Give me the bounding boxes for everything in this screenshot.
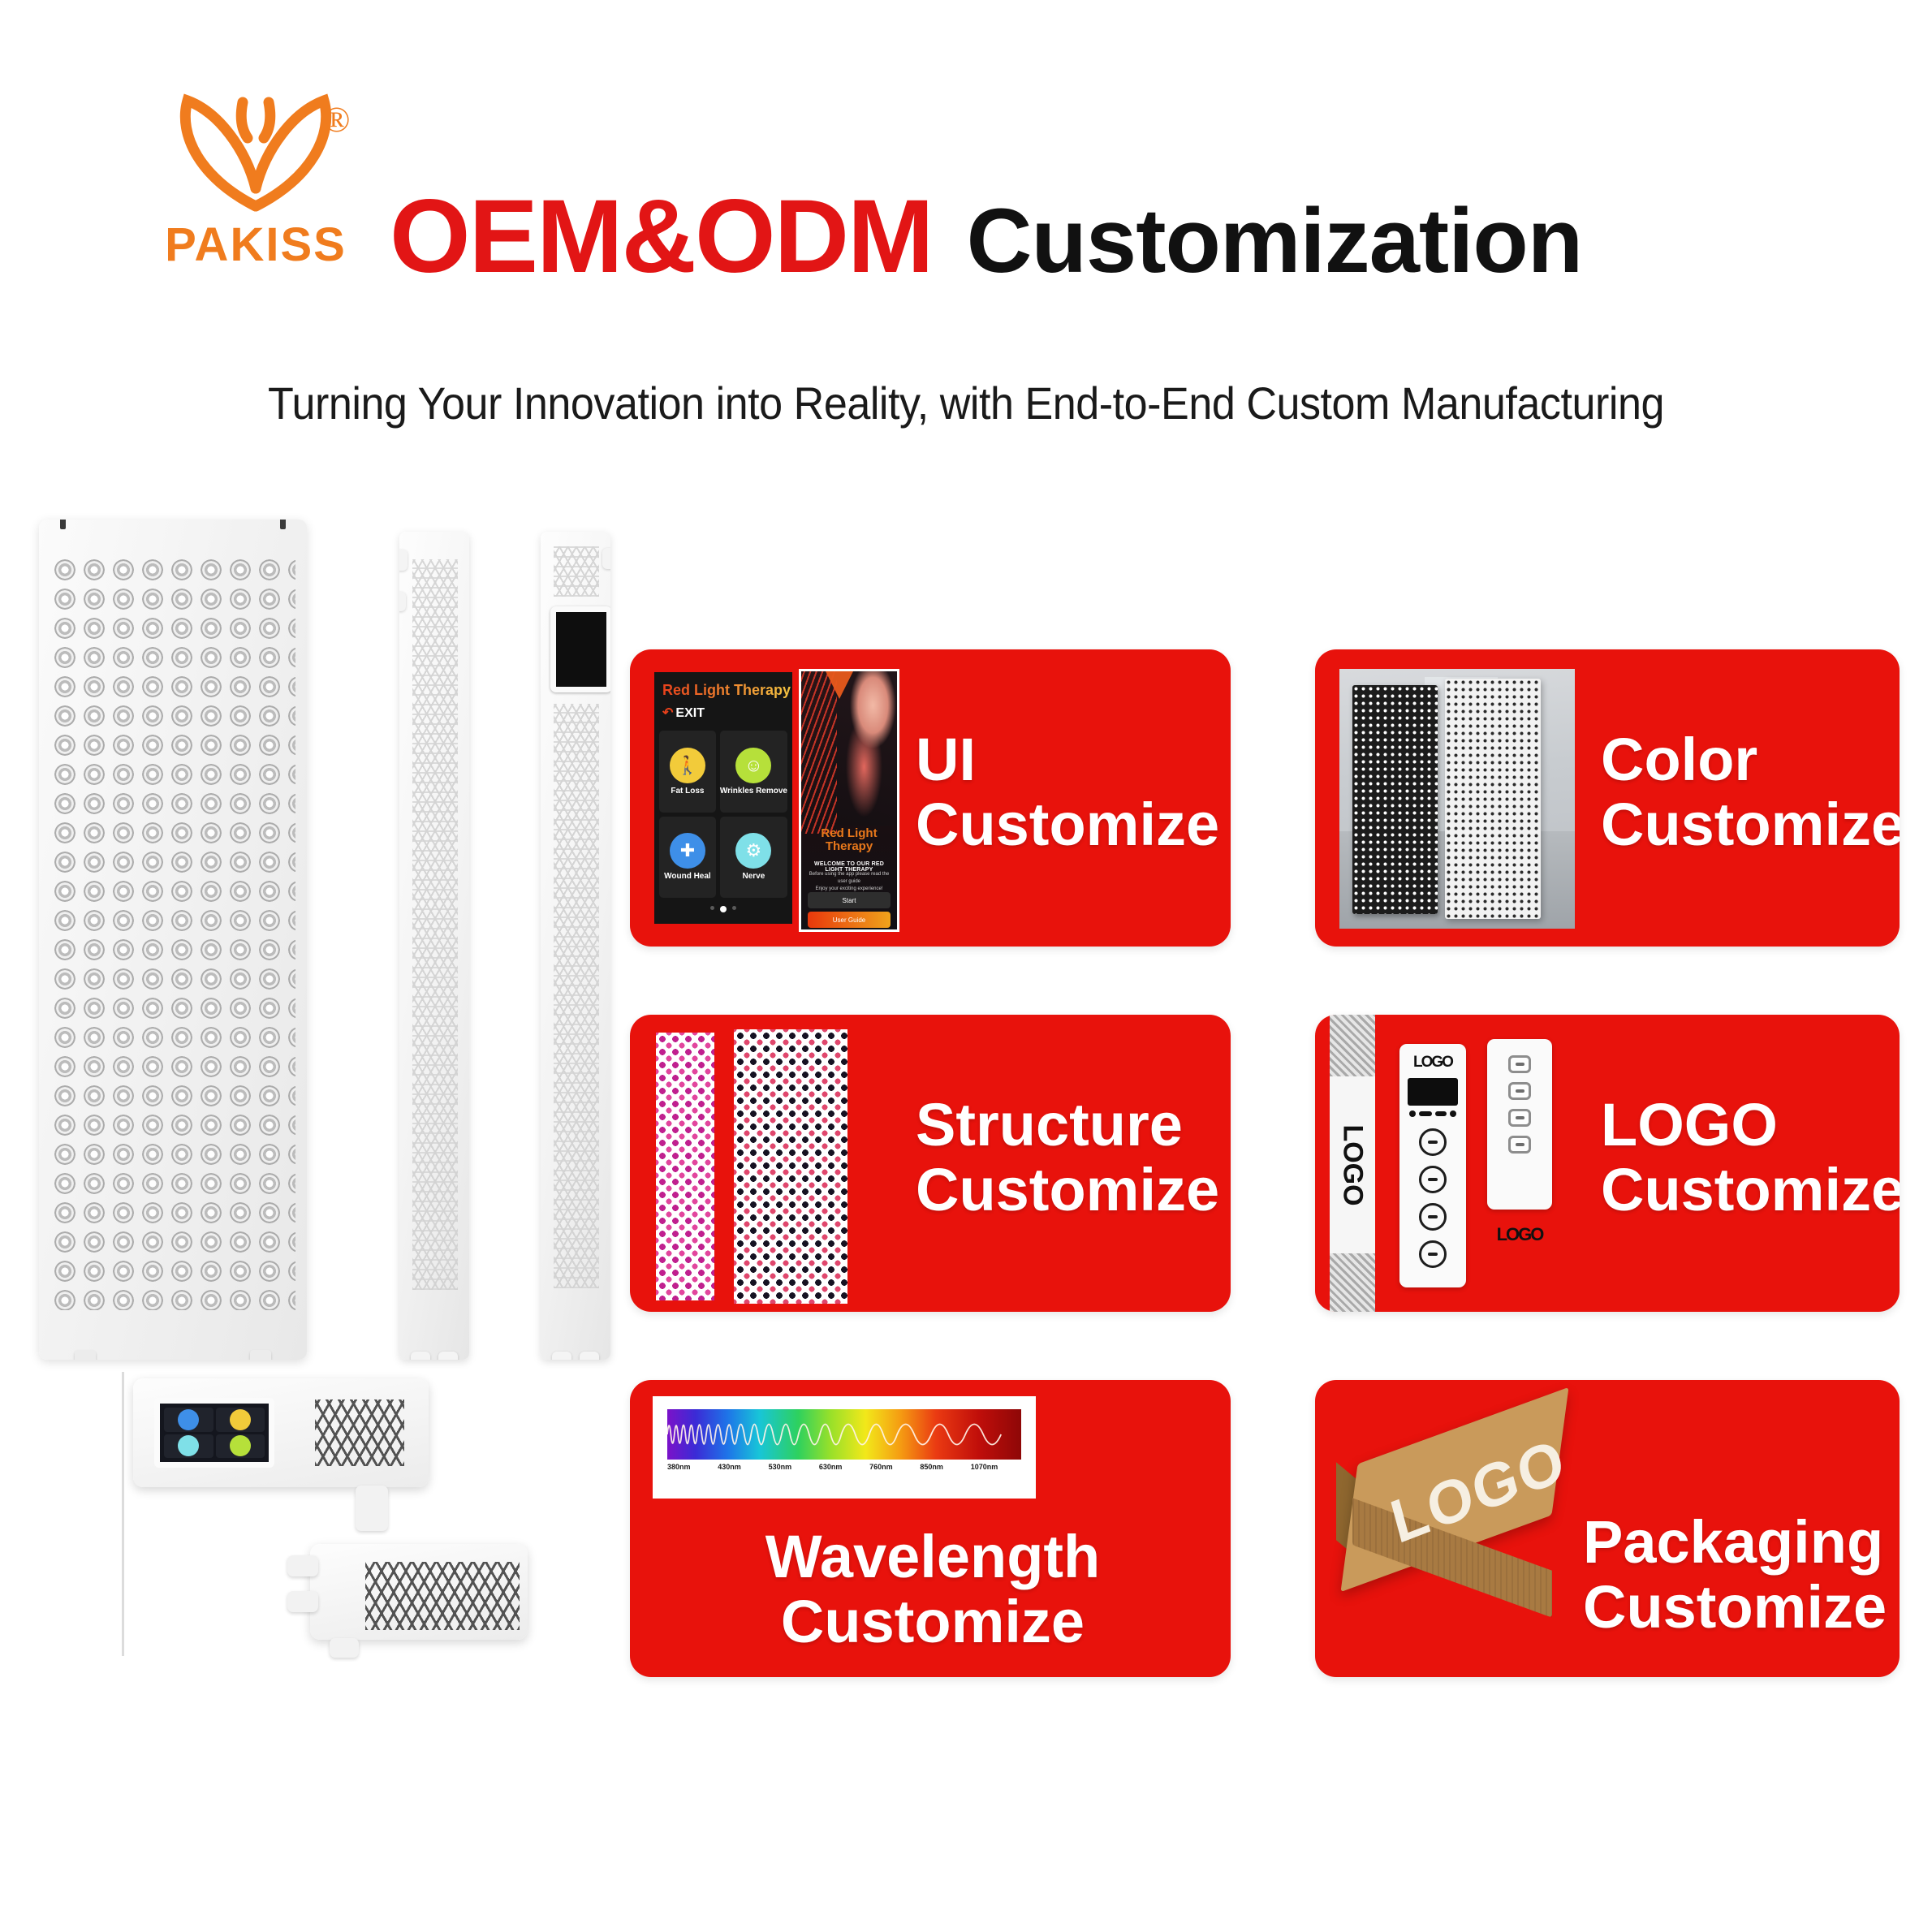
screen-tile-nerve	[164, 1434, 213, 1459]
bar-a-foot-right	[438, 1352, 458, 1360]
panel-button-3[interactable]	[1419, 1203, 1447, 1231]
card-label-line1: Structure	[916, 1093, 1219, 1158]
panel-foot-left	[75, 1350, 96, 1360]
title-oem-odm: OEM&ODM	[390, 185, 933, 289]
control-head-stem-a	[356, 1486, 388, 1531]
device-remote[interactable]	[1487, 1039, 1552, 1210]
card-packaging-label: Packaging Customize	[1583, 1510, 1887, 1640]
bar-a-connector-top	[399, 550, 408, 571]
v-accent-shape	[826, 671, 853, 699]
card-label-line2: Customize	[1601, 1158, 1900, 1223]
registered-mark: ®	[323, 99, 350, 140]
panel-indicator-row	[1399, 1110, 1466, 1117]
panel-foot-right	[250, 1350, 271, 1360]
spectrum-wave-curve	[667, 1409, 1021, 1460]
exit-button[interactable]: ↶EXIT	[662, 705, 705, 721]
side-logo-text: LOGO	[1337, 1124, 1369, 1205]
fat-loss-icon: 🚶	[670, 748, 705, 783]
card-logo-label: LOGO Customize	[1601, 1093, 1900, 1223]
bar-b-display-screen	[550, 606, 610, 692]
remote-button-1[interactable]	[1508, 1055, 1531, 1073]
product-led-panel-photo	[39, 520, 307, 1360]
bar-b-vent-pattern	[554, 704, 599, 1288]
card-label-line2: Customize	[916, 1158, 1219, 1223]
card-ui-label: UI Customize	[916, 727, 1219, 857]
panel-display	[1408, 1078, 1458, 1106]
screen-tile-wrinkles	[216, 1434, 265, 1459]
bar-a-connector-mid	[399, 592, 406, 611]
bar-b-vent-top	[554, 546, 599, 597]
tile-nerve[interactable]: ⚙ Nerve	[720, 817, 787, 899]
panel-white-variant	[1445, 679, 1541, 919]
screen-tile-wound-heal	[164, 1408, 213, 1432]
device-control-panel[interactable]: LOGO	[1399, 1044, 1466, 1287]
bar-a-vent-pattern	[412, 559, 458, 1290]
panel-button-stack[interactable]	[1399, 1128, 1466, 1268]
panel-black-variant	[1352, 685, 1438, 914]
control-head-front	[133, 1378, 429, 1487]
product-light-bar-b	[541, 532, 610, 1360]
ui-screen-menu: Red Light Therapy ↶EXIT 🚶 Fat Loss ☺ Wri…	[654, 672, 792, 924]
remote-logo-text: LOGO	[1487, 1224, 1552, 1245]
ui-screen-welcome: Red LightTherapy WELCOME TO OUR RED LIGH…	[799, 669, 899, 932]
card-color-label: Color Customize	[1601, 727, 1900, 857]
tile-wrinkles-remove[interactable]: ☺ Wrinkles Remove	[720, 731, 787, 813]
page-dot[interactable]	[732, 906, 736, 910]
control-head-side	[310, 1544, 528, 1640]
control-head-side-vent	[365, 1562, 520, 1630]
mesh-vent-top	[1330, 1015, 1375, 1076]
panel-hanger-left	[60, 520, 66, 529]
page-indicator-dots[interactable]	[654, 906, 792, 912]
page-title: OEM&ODM Customization	[390, 185, 1582, 289]
card-structure-label: Structure Customize	[916, 1093, 1219, 1223]
color-variant-photo	[1339, 669, 1575, 929]
tick-label: 760nm	[869, 1463, 920, 1471]
back-arrow-icon: ↶	[662, 705, 673, 721]
remote-button-3[interactable]	[1508, 1109, 1531, 1127]
tick-label: 530nm	[769, 1463, 819, 1471]
control-head-port-b	[287, 1591, 318, 1612]
page-dot-active[interactable]	[720, 906, 727, 912]
tile-label: Wound Heal	[664, 872, 711, 881]
card-label-line1: Wavelength	[734, 1524, 1132, 1589]
bar-a-foot-left	[411, 1352, 430, 1360]
welcome-title: Red LightTherapy	[801, 827, 897, 853]
start-button[interactable]: Start	[808, 892, 891, 908]
device-side-rail: LOGO	[1330, 1015, 1375, 1312]
card-label-line1: UI	[916, 727, 1219, 792]
tile-label: Nerve	[743, 872, 765, 881]
side-rail-logo: LOGO	[1330, 1112, 1375, 1218]
treatment-tile-grid: 🚶 Fat Loss ☺ Wrinkles Remove ✚ Wound Hea…	[659, 731, 787, 898]
photo-edge-line	[122, 1372, 124, 1656]
bar-b-foot-left	[552, 1352, 571, 1360]
screen-title: Red Light Therapy	[662, 682, 791, 699]
remote-button-4[interactable]	[1508, 1136, 1531, 1154]
panel-hanger-right	[280, 520, 286, 529]
tile-wound-heal[interactable]: ✚ Wound Heal	[659, 817, 716, 899]
page-dot[interactable]	[710, 906, 714, 910]
led-strip-narrow	[656, 1033, 714, 1300]
card-color-customize[interactable]: Color Customize	[1315, 649, 1900, 947]
control-head-port-a	[287, 1555, 318, 1576]
tick-label: 1070nm	[971, 1463, 1021, 1471]
packaging-box-photo: LOGO	[1341, 1412, 1585, 1632]
spectrum-chart: 380nm 430nm 530nm 630nm 760nm 850nm 1070…	[653, 1396, 1036, 1499]
card-wavelength-label: Wavelength Customize	[734, 1524, 1132, 1654]
spectrum-tick-labels: 380nm 430nm 530nm 630nm 760nm 850nm 1070…	[667, 1463, 1021, 1471]
page-subtitle: Turning Your Innovation into Reality, wi…	[67, 377, 1864, 429]
control-head-screen	[154, 1398, 274, 1468]
nerve-icon: ⚙	[735, 833, 771, 869]
tick-label: 850nm	[920, 1463, 970, 1471]
wrinkles-remove-icon: ☺	[735, 748, 771, 783]
remote-button-2[interactable]	[1508, 1082, 1531, 1100]
bar-b-foot-right	[580, 1352, 599, 1360]
tick-label: 630nm	[819, 1463, 869, 1471]
card-label-line2: Customize	[916, 792, 1219, 857]
card-structure-customize[interactable]: Structure Customize	[630, 1015, 1231, 1312]
product-control-head-photo	[122, 1372, 560, 1656]
remote-button-stack[interactable]	[1487, 1055, 1552, 1154]
tick-label: 430nm	[718, 1463, 768, 1471]
led-strip-wide	[734, 1029, 847, 1304]
tick-label: 380nm	[667, 1463, 718, 1471]
control-head-stem-b	[330, 1638, 359, 1658]
screen-tile-fat-loss	[216, 1408, 265, 1432]
led-dot-array	[50, 555, 295, 1310]
welcome-body: Before using the app please read the use…	[806, 871, 892, 893]
panel-button-2[interactable]	[1419, 1166, 1447, 1193]
card-wavelength-customize[interactable]: 380nm 430nm 530nm 630nm 760nm 850nm 1070…	[630, 1380, 1231, 1677]
brand-name: PAKISS	[146, 218, 365, 272]
bandage-icon: ✚	[670, 833, 705, 869]
card-ui-customize[interactable]: Red Light Therapy ↶EXIT 🚶 Fat Loss ☺ Wri…	[630, 649, 1231, 947]
panel-button-4[interactable]	[1419, 1240, 1447, 1268]
card-label-line2: Customize	[1583, 1575, 1887, 1640]
control-head-vent	[315, 1399, 404, 1466]
poster-root: ® PAKISS OEM&ODM Customization Turning Y…	[0, 0, 1932, 1932]
tile-fat-loss[interactable]: 🚶 Fat Loss	[659, 731, 716, 813]
card-packaging-customize[interactable]: LOGO Packaging Customize	[1315, 1380, 1900, 1677]
panel-button-1[interactable]	[1419, 1128, 1447, 1156]
header: ® PAKISS OEM&ODM Customization Turning Y…	[0, 0, 1932, 349]
bar-b-connector-top	[602, 548, 610, 569]
card-label-line2: Customize	[1601, 792, 1900, 857]
card-label-line1: Packaging	[1583, 1510, 1887, 1575]
card-label-line1: Color	[1601, 727, 1900, 792]
card-logo-customize[interactable]: LOGO LOGO	[1315, 1015, 1900, 1312]
card-label-line1: LOGO	[1601, 1093, 1900, 1158]
product-light-bar-a	[399, 532, 469, 1360]
card-label-line2: Customize	[734, 1589, 1132, 1654]
panel-logo-text: LOGO	[1399, 1054, 1466, 1072]
tile-label: Wrinkles Remove	[720, 787, 787, 796]
title-customization: Customization	[967, 196, 1583, 287]
mesh-vent-bottom	[1330, 1253, 1375, 1312]
tile-label: Fat Loss	[671, 787, 704, 796]
user-guide-button[interactable]: User Guide	[808, 912, 891, 928]
